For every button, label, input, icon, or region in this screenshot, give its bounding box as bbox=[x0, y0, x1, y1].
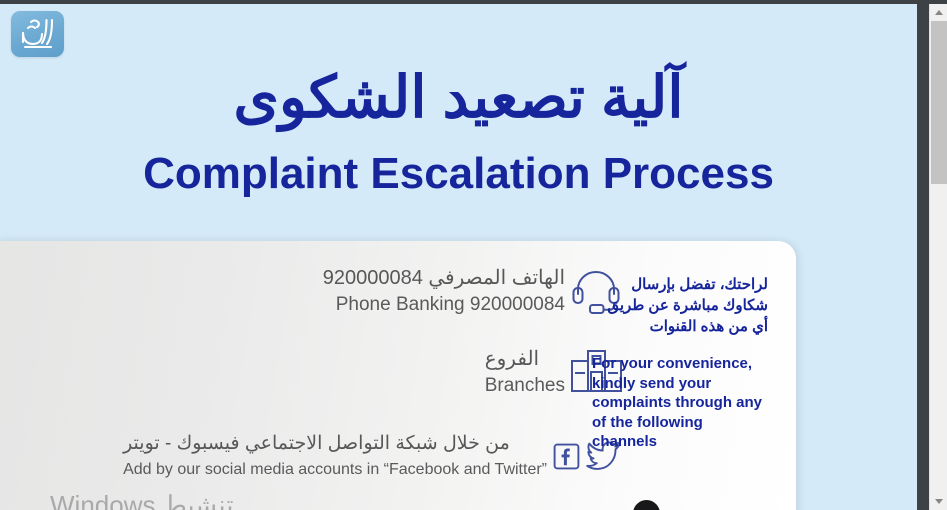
channel-row-social-media: من خلال شبكة التواصل الاجتماعي فيسبوك - … bbox=[113, 428, 627, 484]
channel-label-arabic: الفروع bbox=[485, 346, 565, 373]
page-title-arabic: آلية تصعيد الشكوى bbox=[0, 62, 917, 134]
note-panel: لراحتك، تفضل بإرسال شكاوك مباشرة عن طريق… bbox=[592, 274, 768, 452]
presentation-viewer: آلية تصعيد الشكوى Complaint Escalation P… bbox=[0, 0, 947, 510]
channel-label-english: Add by our social media accounts in “Fac… bbox=[123, 457, 547, 483]
note-text-english: For your convenience, kindly send your c… bbox=[592, 354, 768, 452]
channel-label-arabic: الهاتف المصرفي 920000084 bbox=[323, 265, 565, 292]
chevron-down-icon bbox=[935, 499, 943, 504]
channel-label-arabic: من خلال شبكة التواصل الاجتماعي فيسبوك - … bbox=[123, 430, 547, 457]
channel-label-english: Phone Banking 920000084 bbox=[323, 292, 565, 318]
channel-row-phone-banking: الهاتف المصرفي 920000084 Phone Banking 9… bbox=[313, 263, 627, 319]
channel-label-english: Branches bbox=[485, 373, 565, 399]
page-title-english: Complaint Escalation Process bbox=[0, 145, 917, 203]
chevron-up-icon bbox=[935, 10, 943, 15]
windows-activation-watermark: تنشيط Windows bbox=[50, 489, 234, 510]
scroll-down-button[interactable] bbox=[930, 493, 947, 510]
slide-canvas: آلية تصعيد الشكوى Complaint Escalation P… bbox=[0, 4, 917, 510]
vertical-scrollbar[interactable] bbox=[929, 4, 947, 510]
scroll-up-button[interactable] bbox=[930, 4, 947, 21]
alrajhi-bank-logo bbox=[11, 11, 64, 57]
scrollbar-thumb[interactable] bbox=[931, 21, 947, 184]
facebook-icon bbox=[553, 443, 580, 470]
note-text-arabic: لراحتك، تفضل بإرسال شكاوك مباشرة عن طريق… bbox=[592, 274, 768, 337]
